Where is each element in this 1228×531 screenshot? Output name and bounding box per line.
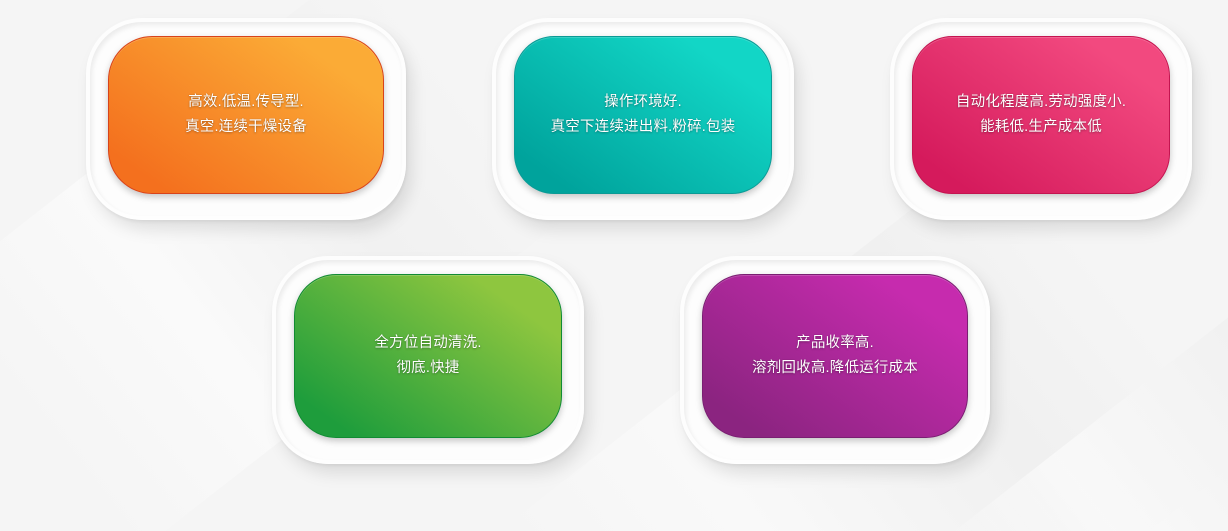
card-text: 全方位自动清洗. 彻底.快捷 bbox=[360, 331, 495, 381]
feature-card-product-yield[interactable]: 产品收率高. 溶剂回收高.降低运行成本 bbox=[680, 256, 990, 464]
card-text: 自动化程度高.劳动强度小. 能耗低.生产成本低 bbox=[942, 90, 1140, 140]
card-panel-teal: 操作环境好. 真空下连续进出料.粉碎.包装 bbox=[514, 36, 772, 194]
card-panel-orange: 高效.低温.传导型. 真空.连续干燥设备 bbox=[108, 36, 384, 194]
card-panel-purple: 产品收率高. 溶剂回收高.降低运行成本 bbox=[702, 274, 968, 438]
feature-card-automation-level[interactable]: 自动化程度高.劳动强度小. 能耗低.生产成本低 bbox=[890, 18, 1192, 220]
feature-card-automatic-cleaning[interactable]: 全方位自动清洗. 彻底.快捷 bbox=[272, 256, 584, 464]
feature-card-operating-environment[interactable]: 操作环境好. 真空下连续进出料.粉碎.包装 bbox=[492, 18, 794, 220]
slide-canvas: 高效.低温.传导型. 真空.连续干燥设备 操作环境好. 真空下连续进出料.粉碎.… bbox=[0, 0, 1228, 531]
card-panel-pink: 自动化程度高.劳动强度小. 能耗低.生产成本低 bbox=[912, 36, 1170, 194]
card-panel-green: 全方位自动清洗. 彻底.快捷 bbox=[294, 274, 562, 438]
card-text: 产品收率高. 溶剂回收高.降低运行成本 bbox=[738, 331, 932, 381]
feature-card-drying-equipment[interactable]: 高效.低温.传导型. 真空.连续干燥设备 bbox=[86, 18, 406, 220]
card-text: 高效.低温.传导型. 真空.连续干燥设备 bbox=[171, 90, 321, 140]
card-text: 操作环境好. 真空下连续进出料.粉碎.包装 bbox=[537, 90, 750, 140]
